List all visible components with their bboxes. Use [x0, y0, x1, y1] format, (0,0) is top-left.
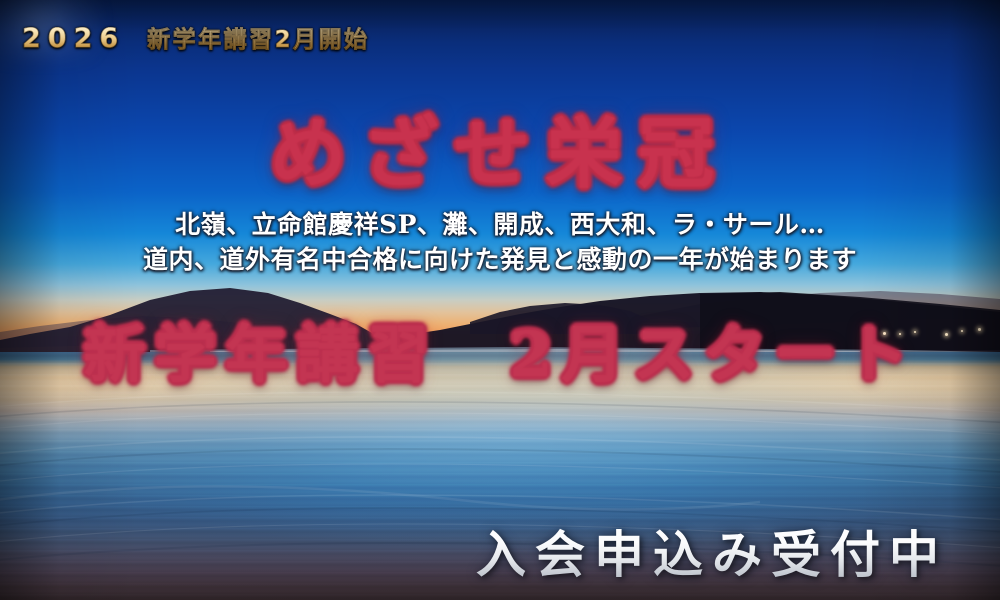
- eyebrow-year: 2026: [22, 23, 125, 54]
- call-to-action-text: 入会申込み受付中: [476, 515, 948, 587]
- subtitle-line-1: 北嶺、立命館慶祥SP、灘、開成、西大和、ラ・サール…: [0, 205, 1000, 241]
- eyebrow-label: 新学年講習2月開始: [147, 20, 370, 54]
- promo-headline: 新学年講習 2月スタート: [0, 304, 1000, 394]
- subtitle-line-2: 道内、道外有名中合格に向けた発見と感動の一年が始まります: [0, 240, 1000, 276]
- eyebrow-line: 2026 新学年講習2月開始: [22, 20, 370, 54]
- page-title: めざせ栄冠: [0, 92, 1000, 202]
- promo-headline-text: 新学年講習 2月スタート: [83, 318, 916, 391]
- promotional-banner: 2026 新学年講習2月開始 めざせ栄冠 北嶺、立命館慶祥SP、灘、開成、西大和…: [0, 0, 1000, 600]
- page-title-text: めざせ栄冠: [270, 109, 730, 198]
